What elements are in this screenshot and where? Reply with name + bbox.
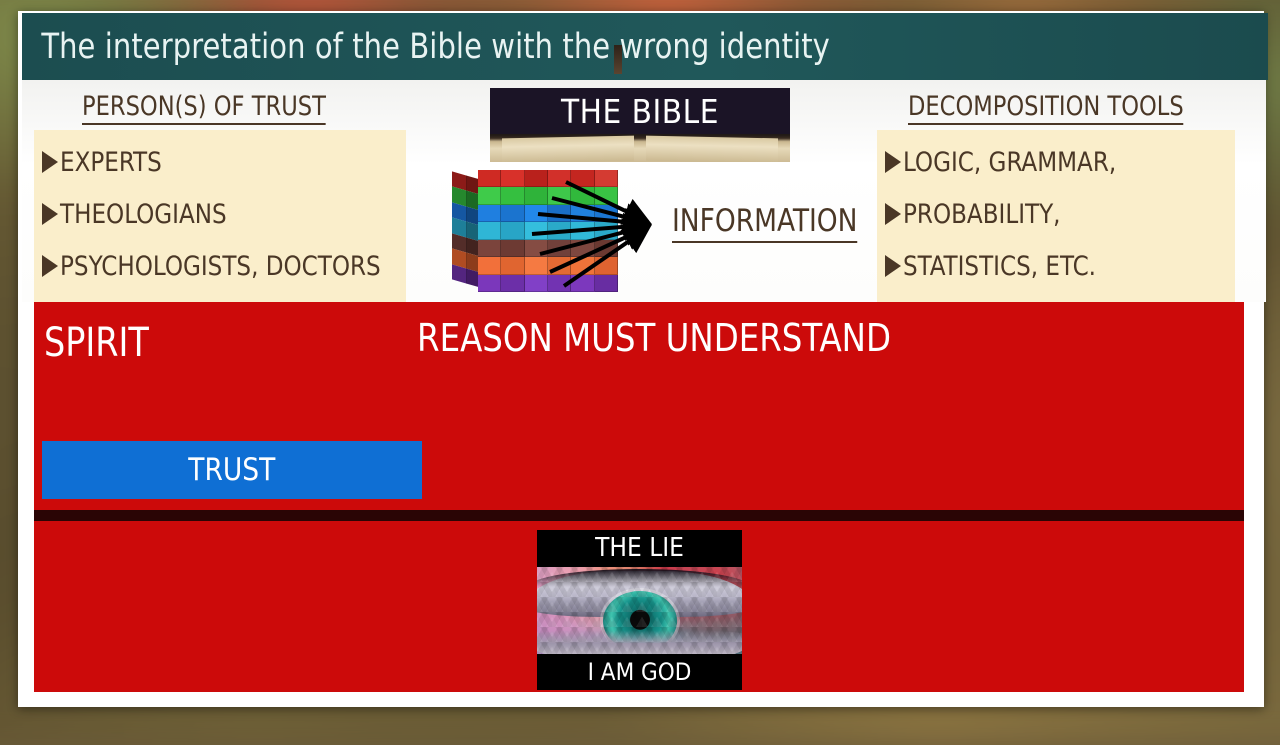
bible-image-card: THE BIBLE xyxy=(490,88,790,162)
list-item: EXPERTS xyxy=(34,136,406,188)
polygonal-eye-image xyxy=(537,567,742,654)
triangle-right-icon xyxy=(42,151,58,173)
list-item-label: LOGIC, GRAMMAR, xyxy=(903,147,1116,178)
page-title: The interpretation of the Bible with the… xyxy=(22,27,830,67)
bible-caption: THE BIBLE xyxy=(490,88,790,134)
list-item: LOGIC, GRAMMAR, xyxy=(877,136,1235,188)
list-item: PROBABILITY, xyxy=(877,188,1235,240)
list-item-label: PSYCHOLOGISTS, DOCTORS xyxy=(60,251,381,282)
right-column-heading: DECOMPOSITION TOOLS xyxy=(908,91,1184,125)
list-item: THEOLOGIANS xyxy=(34,188,406,240)
book-spine xyxy=(614,45,622,74)
red-content-panel: SPIRIT REASON MUST UNDERSTAND TRUST THE … xyxy=(34,302,1244,692)
the-lie-caption: THE LIE xyxy=(537,530,742,567)
triangle-right-icon xyxy=(885,203,901,225)
triangle-right-icon xyxy=(885,151,901,173)
left-column-heading: PERSON(S) OF TRUST xyxy=(82,91,326,125)
information-label: INFORMATION xyxy=(672,203,857,243)
trust-bar: TRUST xyxy=(42,441,422,499)
i-am-god-caption: I AM GOD xyxy=(537,654,742,690)
spirit-label: SPIRIT xyxy=(44,320,149,366)
person-of-trust-list: EXPERTS THEOLOGIANS PSYCHOLOGISTS, DOCTO… xyxy=(34,130,406,304)
triangle-right-icon xyxy=(885,255,901,277)
the-lie-card: THE LIE I AM GOD xyxy=(537,530,742,690)
trust-label: TRUST xyxy=(189,452,276,488)
list-item-label: THEOLOGIANS xyxy=(60,199,227,230)
slide-title-bar: The interpretation of the Bible with the… xyxy=(22,13,1268,80)
list-item-label: EXPERTS xyxy=(60,147,162,178)
list-item-label: PROBABILITY, xyxy=(903,199,1061,230)
list-item: STATISTICS, ETC. xyxy=(877,240,1235,292)
decomposition-tools-list: LOGIC, GRAMMAR, PROBABILITY, STATISTICS,… xyxy=(877,130,1235,304)
triangle-right-icon xyxy=(42,255,58,277)
reason-must-understand-label: REASON MUST UNDERSTAND xyxy=(417,316,891,360)
triangle-right-icon xyxy=(42,203,58,225)
list-item-label: STATISTICS, ETC. xyxy=(903,251,1096,282)
dark-divider-bar xyxy=(34,510,1244,521)
list-item: PSYCHOLOGISTS, DOCTORS xyxy=(34,240,406,292)
eye-facet-overlay xyxy=(537,567,742,654)
